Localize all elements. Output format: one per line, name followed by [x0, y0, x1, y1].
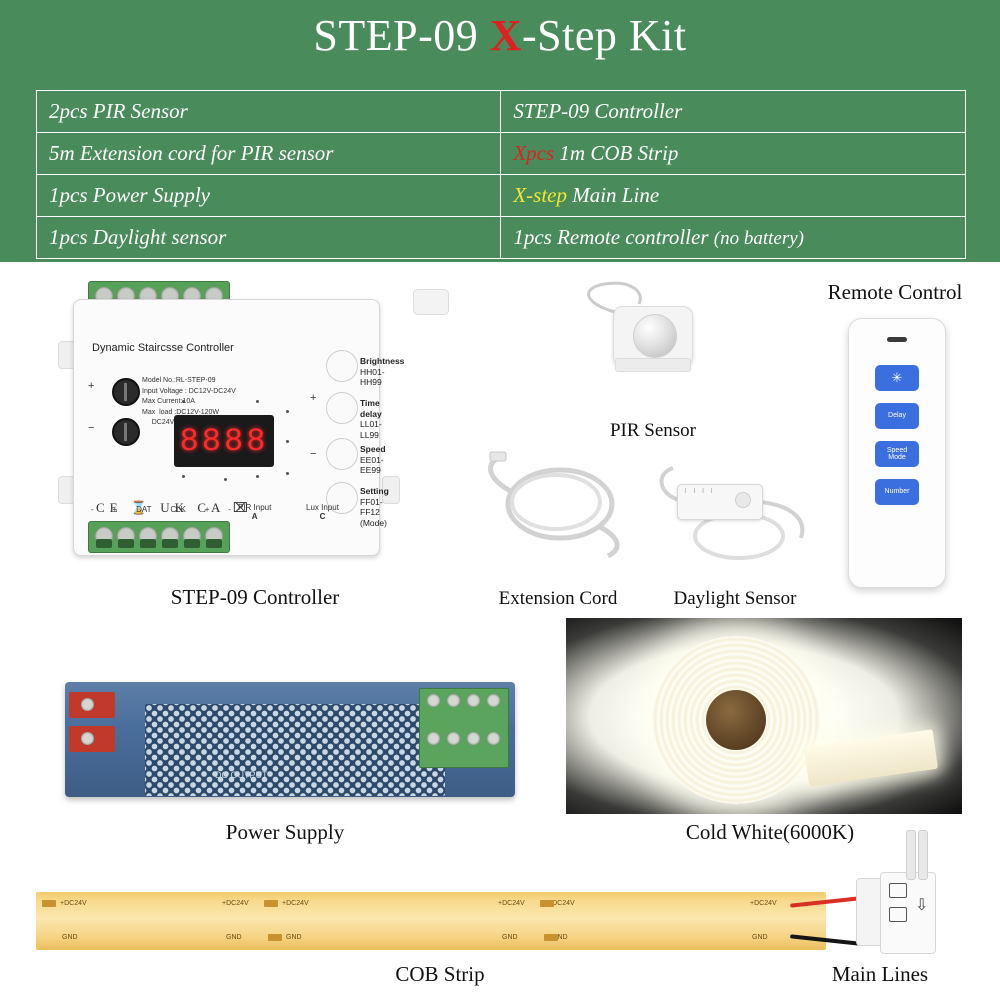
- controller-caption: STEP-09 Controller: [80, 585, 430, 610]
- kit-item-left-1: 5m Extension cord for PIR sensor: [37, 133, 501, 175]
- kit-contents-table: 2pcs PIR Sensor STEP-09 Controller 5m Ex…: [36, 90, 966, 259]
- cob-strip-bottom-mark-1: GND: [226, 934, 242, 941]
- controller-digit-display: 8888: [174, 415, 274, 467]
- pir-sensor-bracket: [615, 358, 691, 372]
- main-line-terminal-b: [889, 907, 907, 922]
- controller-setting-label: SettingFF01-FF12(Mode): [360, 486, 389, 529]
- daylight-sensor-image: | | | |: [655, 440, 825, 570]
- remote-indicator-slot: [887, 337, 907, 342]
- cob-strip-top-mark-5: +DC24V: [750, 900, 777, 907]
- main-line-arrow-icon: ⇩: [915, 895, 928, 915]
- controller-timedelay-button[interactable]: [326, 392, 358, 424]
- kit-item-left-2: 1pcs Power Supply: [37, 175, 501, 217]
- cob-strip-top-mark-0: +DC24V: [60, 900, 87, 907]
- step09-controller-image: -+CLKDAT-+ BPIR Input DLux Input Dynamic…: [58, 281, 398, 571]
- cob-strip-image: +DC24V +DC24V +DC24V +DC24V +DC24V +DC24…: [36, 892, 826, 950]
- controller-minus-sign: −: [88, 422, 94, 434]
- table-row: 1pcs Power Supply X-step Main Line: [37, 175, 966, 217]
- extension-cord-caption: Extension Cord: [478, 588, 638, 610]
- controller-timedelay-label: Time delayLL01-LL99: [360, 398, 382, 441]
- controller-speed-label: SpeedEE01-EE99: [360, 444, 386, 476]
- daylight-sensor-knob[interactable]: [735, 492, 751, 508]
- cob-strip-caption: COB Strip: [310, 962, 570, 987]
- cob-reel-photo: [566, 618, 962, 814]
- pir-sensor-dome: [633, 314, 677, 358]
- kit-item-right-0-text: STEP-09 Controller: [513, 99, 682, 123]
- table-row: 2pcs PIR Sensor STEP-09 Controller: [37, 91, 966, 133]
- main-line-cable-upper: [906, 830, 916, 880]
- cob-reel-hub: [706, 690, 766, 750]
- cob-strip-top-mark-1: +DC24V: [222, 900, 249, 907]
- kit-item-right-1: Xpcs 1m COB Strip: [501, 133, 966, 175]
- remote-button-speed-mode[interactable]: SpeedMode: [875, 441, 919, 467]
- main-lines-image: ⇩: [880, 872, 936, 954]
- cob-strip-bottom-mark-5: GND: [752, 934, 768, 941]
- kit-item-left-3: 1pcs Daylight sensor: [37, 217, 501, 259]
- page-title-pre: STEP-09: [313, 11, 489, 60]
- controller-brightness-label: BrightnessHH01-HH99: [360, 356, 404, 388]
- remote-caption-top: Remote Control: [790, 280, 1000, 305]
- power-supply-vent-mesh: [145, 704, 445, 796]
- extension-cord-image: [478, 440, 638, 570]
- controller-bottom-pin-labels: -+DATCLK+-: [91, 505, 231, 514]
- controller-display-value: 8888: [180, 423, 269, 460]
- controller-bottom-group-a: PIR InputA: [238, 503, 271, 521]
- power-supply-image: DC OUTPUT: [35, 670, 535, 820]
- cob-strip-bottom-mark-2: GND: [286, 934, 302, 941]
- page-title-x: X: [490, 11, 522, 60]
- controller-brightness-button[interactable]: [326, 350, 358, 382]
- controller-speed-button[interactable]: [326, 438, 358, 470]
- kit-item-right-1-text: 1m COB Strip: [554, 141, 678, 165]
- remote-button-delay[interactable]: Delay: [875, 403, 919, 429]
- cob-strip-bottom-mark-0: GND: [62, 934, 78, 941]
- pir-sensor-image: [575, 278, 730, 388]
- controller-knob-lower[interactable]: [112, 418, 140, 446]
- cob-strip-bottom-mark-3: GND: [502, 934, 518, 941]
- kit-item-right-2-text: Main Line: [567, 183, 659, 207]
- cob-reel-caption: Cold White(6000K): [610, 820, 930, 845]
- page-title: STEP-09 X-Step Kit: [0, 10, 1000, 61]
- controller-bottom-group-c: Lux InputC: [306, 503, 339, 521]
- cob-strip-top-mark-2: +DC24V: [282, 900, 309, 907]
- kit-item-right-1-highlight: Xpcs: [513, 141, 554, 165]
- daylight-sensor-caption: Daylight Sensor: [650, 588, 820, 610]
- kit-item-right-2-highlight: X-step: [513, 183, 567, 207]
- remote-button-brightness[interactable]: ✳: [875, 365, 919, 391]
- controller-knob-upper[interactable]: [112, 378, 140, 406]
- controller-plus-sign: +: [88, 380, 94, 392]
- remote-button-number[interactable]: Number: [875, 479, 919, 505]
- kit-item-right-3-text: 1pcs Remote controller: [513, 225, 713, 249]
- extension-cord-wire: [478, 440, 638, 570]
- controller-brand-text: Dynamic Staircsse Controller: [92, 342, 234, 354]
- power-supply-print: DC OUTPUT: [215, 770, 268, 780]
- kit-item-right-3: 1pcs Remote controller (no battery): [501, 217, 966, 259]
- kit-item-right-2: X-step Main Line: [501, 175, 966, 217]
- controller-bottom-terminal-block: [88, 521, 230, 553]
- pir-sensor-caption: PIR Sensor: [578, 420, 728, 442]
- kit-header-banner: STEP-09 X-Step Kit 2pcs PIR Sensor STEP-…: [0, 0, 1000, 262]
- main-line-terminal-a: [889, 883, 907, 898]
- page-title-post: -Step Kit: [522, 11, 687, 60]
- daylight-sensor-pin-marks: | | | |: [685, 488, 715, 494]
- kit-item-right-0: STEP-09 Controller: [501, 91, 966, 133]
- power-supply-caption: Power Supply: [120, 820, 450, 845]
- cob-strip-top-mark-3: +DC24V: [498, 900, 525, 907]
- kit-item-right-3-note: (no battery): [714, 228, 804, 249]
- remote-control-image: ✳ Delay SpeedMode Number: [848, 318, 946, 588]
- table-row: 5m Extension cord for PIR sensor Xpcs 1m…: [37, 133, 966, 175]
- table-row: 1pcs Daylight sensor 1pcs Remote control…: [37, 217, 966, 259]
- kit-item-left-0: 2pcs PIR Sensor: [37, 91, 501, 133]
- main-lines-caption: Main Lines: [760, 962, 1000, 987]
- main-line-cable-upper-2: [918, 830, 928, 880]
- controller-hang-tab: [413, 289, 449, 315]
